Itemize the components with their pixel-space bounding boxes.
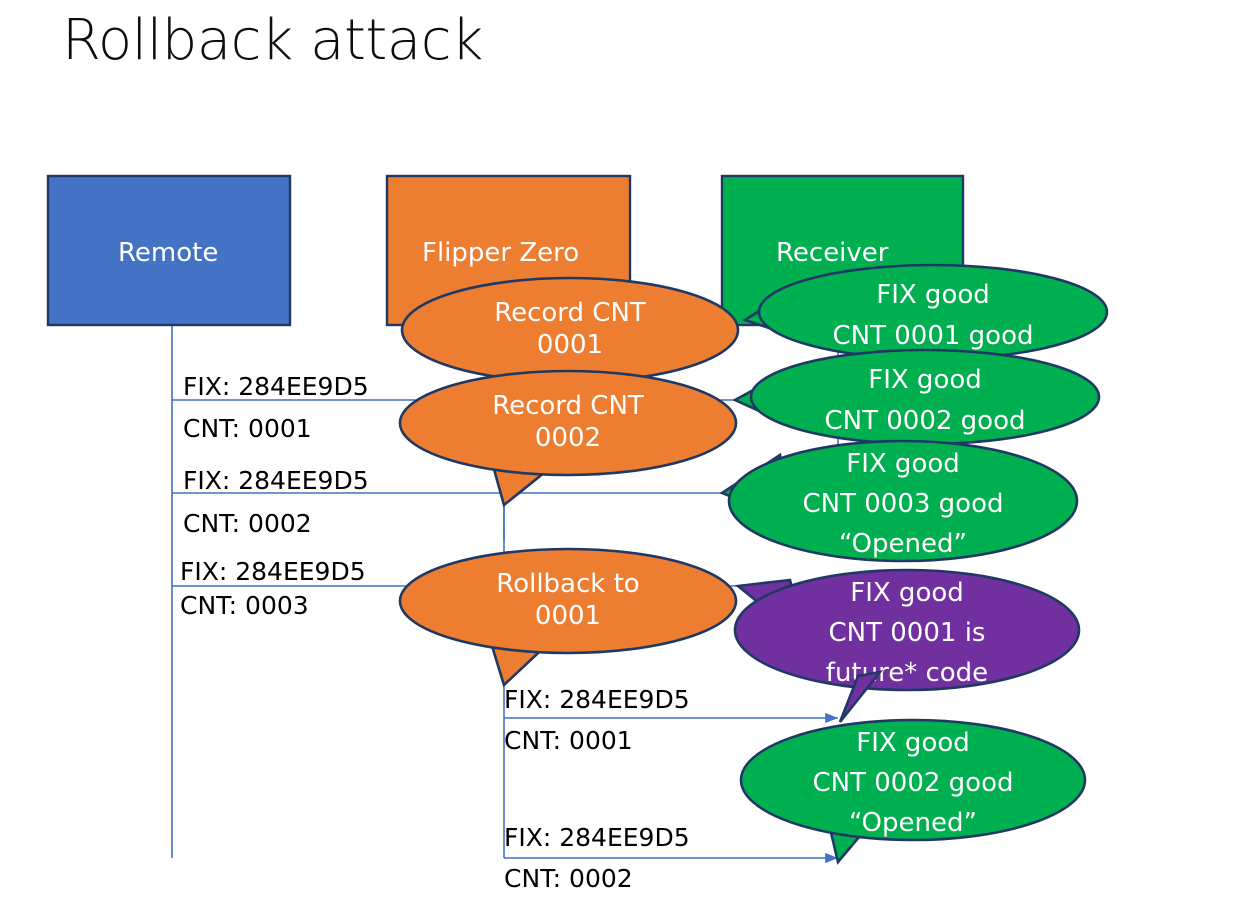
callout-line: FIX good xyxy=(846,449,960,479)
callout-line: 0002 xyxy=(535,423,601,453)
callout-line: FIX good xyxy=(876,280,990,310)
actor-box-remote[interactable]: Remote xyxy=(48,176,290,325)
message-fix-m2: FIX: 284EE9D5 xyxy=(183,466,369,495)
callout-line: future* code xyxy=(826,658,988,688)
message-cnt-m1: CNT: 0001 xyxy=(183,414,312,443)
callout-line: CNT 0003 good xyxy=(802,489,1003,519)
callout-line: CNT 0002 good xyxy=(812,768,1013,798)
callout-line: “Opened” xyxy=(839,529,967,559)
message-fix-m3: FIX: 284EE9D5 xyxy=(180,557,366,586)
callout-line: FIX good xyxy=(868,365,982,395)
callout-line: CNT 0001 is xyxy=(829,618,986,648)
message-fix-m5: FIX: 284EE9D5 xyxy=(504,823,690,852)
diagram-svg: Remote Flipper Zero Receiver Record CNT … xyxy=(0,0,1233,898)
callout-line: FIX good xyxy=(856,728,970,758)
slide-canvas: Rollback attack xyxy=(0,0,1233,898)
callout-line: Record CNT xyxy=(492,391,644,421)
callout-receiver-0002-good[interactable]: FIX good CNT 0002 good xyxy=(735,350,1099,444)
callout-line: “Opened” xyxy=(849,808,977,838)
callout-receiver-0002-opened[interactable]: FIX good CNT 0002 good “Opened” xyxy=(741,720,1085,862)
message-cnt-m2: CNT: 0002 xyxy=(183,509,312,538)
message-cnt-m5: CNT: 0002 xyxy=(504,864,633,893)
message-cnt-m4: CNT: 0001 xyxy=(504,726,633,755)
callout-line: FIX good xyxy=(850,578,964,608)
actor-label-flipper: Flipper Zero xyxy=(422,238,579,268)
callout-line: Record CNT xyxy=(494,298,646,328)
callout-line: Rollback to xyxy=(496,569,639,599)
callout-line: CNT 0001 good xyxy=(832,321,1033,351)
callout-line: 0001 xyxy=(535,601,601,631)
callout-flipper-record-0001[interactable]: Record CNT 0001 xyxy=(402,278,738,382)
actor-label-receiver: Receiver xyxy=(776,238,889,268)
callout-line: 0001 xyxy=(537,330,603,360)
callout-line: CNT 0002 good xyxy=(824,406,1025,436)
callout-flipper-record-0002[interactable]: Record CNT 0002 xyxy=(400,371,736,505)
message-fix-m4: FIX: 284EE9D5 xyxy=(504,685,690,714)
message-cnt-m3: CNT: 0003 xyxy=(180,591,309,620)
message-fix-m1: FIX: 284EE9D5 xyxy=(183,372,369,401)
callout-receiver-0003-opened[interactable]: FIX good CNT 0003 good “Opened” xyxy=(722,441,1077,561)
actor-label-remote: Remote xyxy=(118,238,218,268)
callout-receiver-future-code[interactable]: FIX good CNT 0001 is future* code xyxy=(735,570,1079,690)
callout-flipper-rollback[interactable]: Rollback to 0001 xyxy=(400,549,736,685)
